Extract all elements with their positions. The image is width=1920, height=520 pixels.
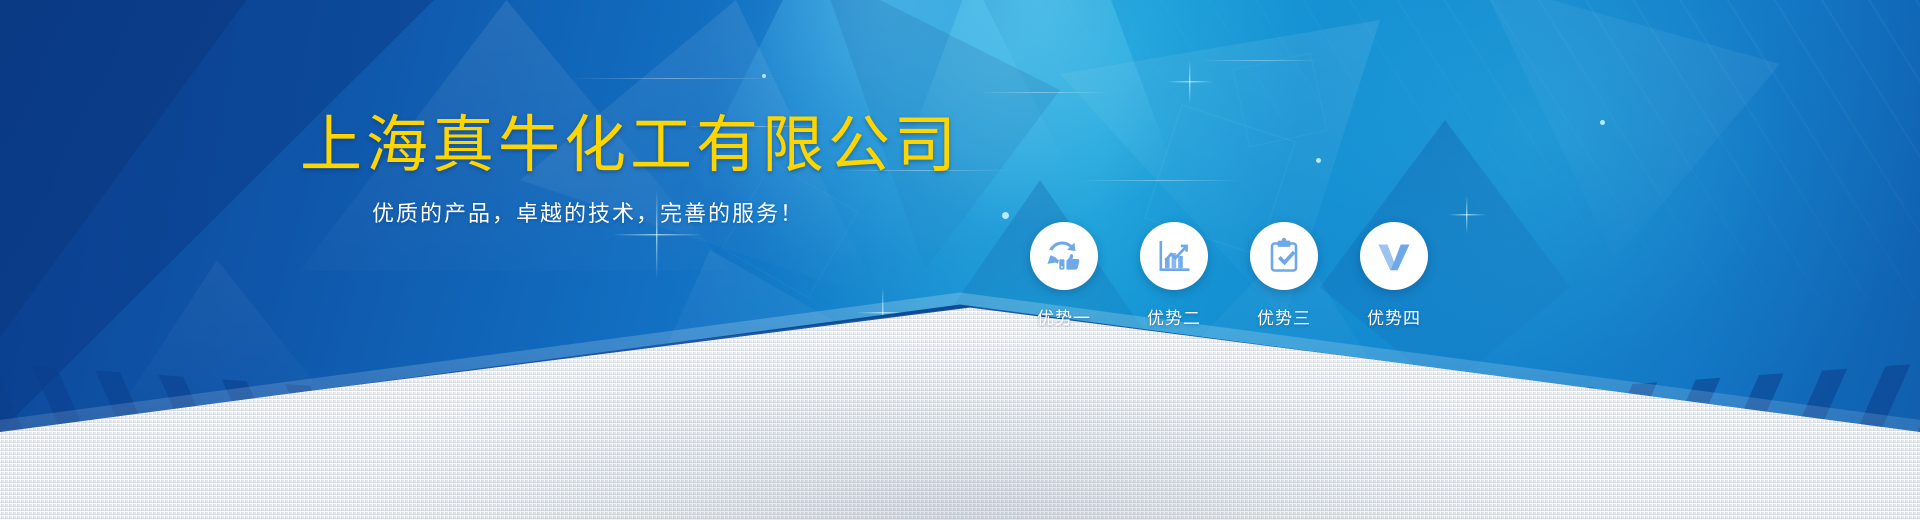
page-title: 上海真牛化工有限公司 xyxy=(300,94,960,184)
feature-list: 优势一 xyxy=(1030,222,1428,329)
page-subtitle: 优质的产品，卓越的技术，完善的服务！ xyxy=(372,196,804,228)
feature-icon-circle xyxy=(1030,222,1098,290)
clipboard-check-icon xyxy=(1264,236,1304,276)
feature-item-1[interactable]: 优势一 xyxy=(1030,222,1098,329)
growth-chart-icon xyxy=(1154,236,1194,276)
feature-item-3[interactable]: 优势三 xyxy=(1250,222,1318,329)
feature-label: 优势一 xyxy=(1037,304,1091,329)
v-check-icon xyxy=(1374,236,1414,276)
feature-icon-circle xyxy=(1140,222,1208,290)
feature-item-2[interactable]: 优势二 xyxy=(1140,222,1208,329)
feature-label: 优势四 xyxy=(1367,304,1421,329)
feature-label: 优势三 xyxy=(1257,304,1311,329)
feature-item-4[interactable]: 优势四 xyxy=(1360,222,1428,329)
company-hero-banner: 上海真牛化工有限公司 优质的产品，卓越的技术，完善的服务！ xyxy=(0,0,1920,520)
refresh-thumbs-up-icon xyxy=(1044,236,1084,276)
feature-label: 优势二 xyxy=(1147,304,1201,329)
feature-icon-circle xyxy=(1250,222,1318,290)
feature-icon-circle xyxy=(1360,222,1428,290)
